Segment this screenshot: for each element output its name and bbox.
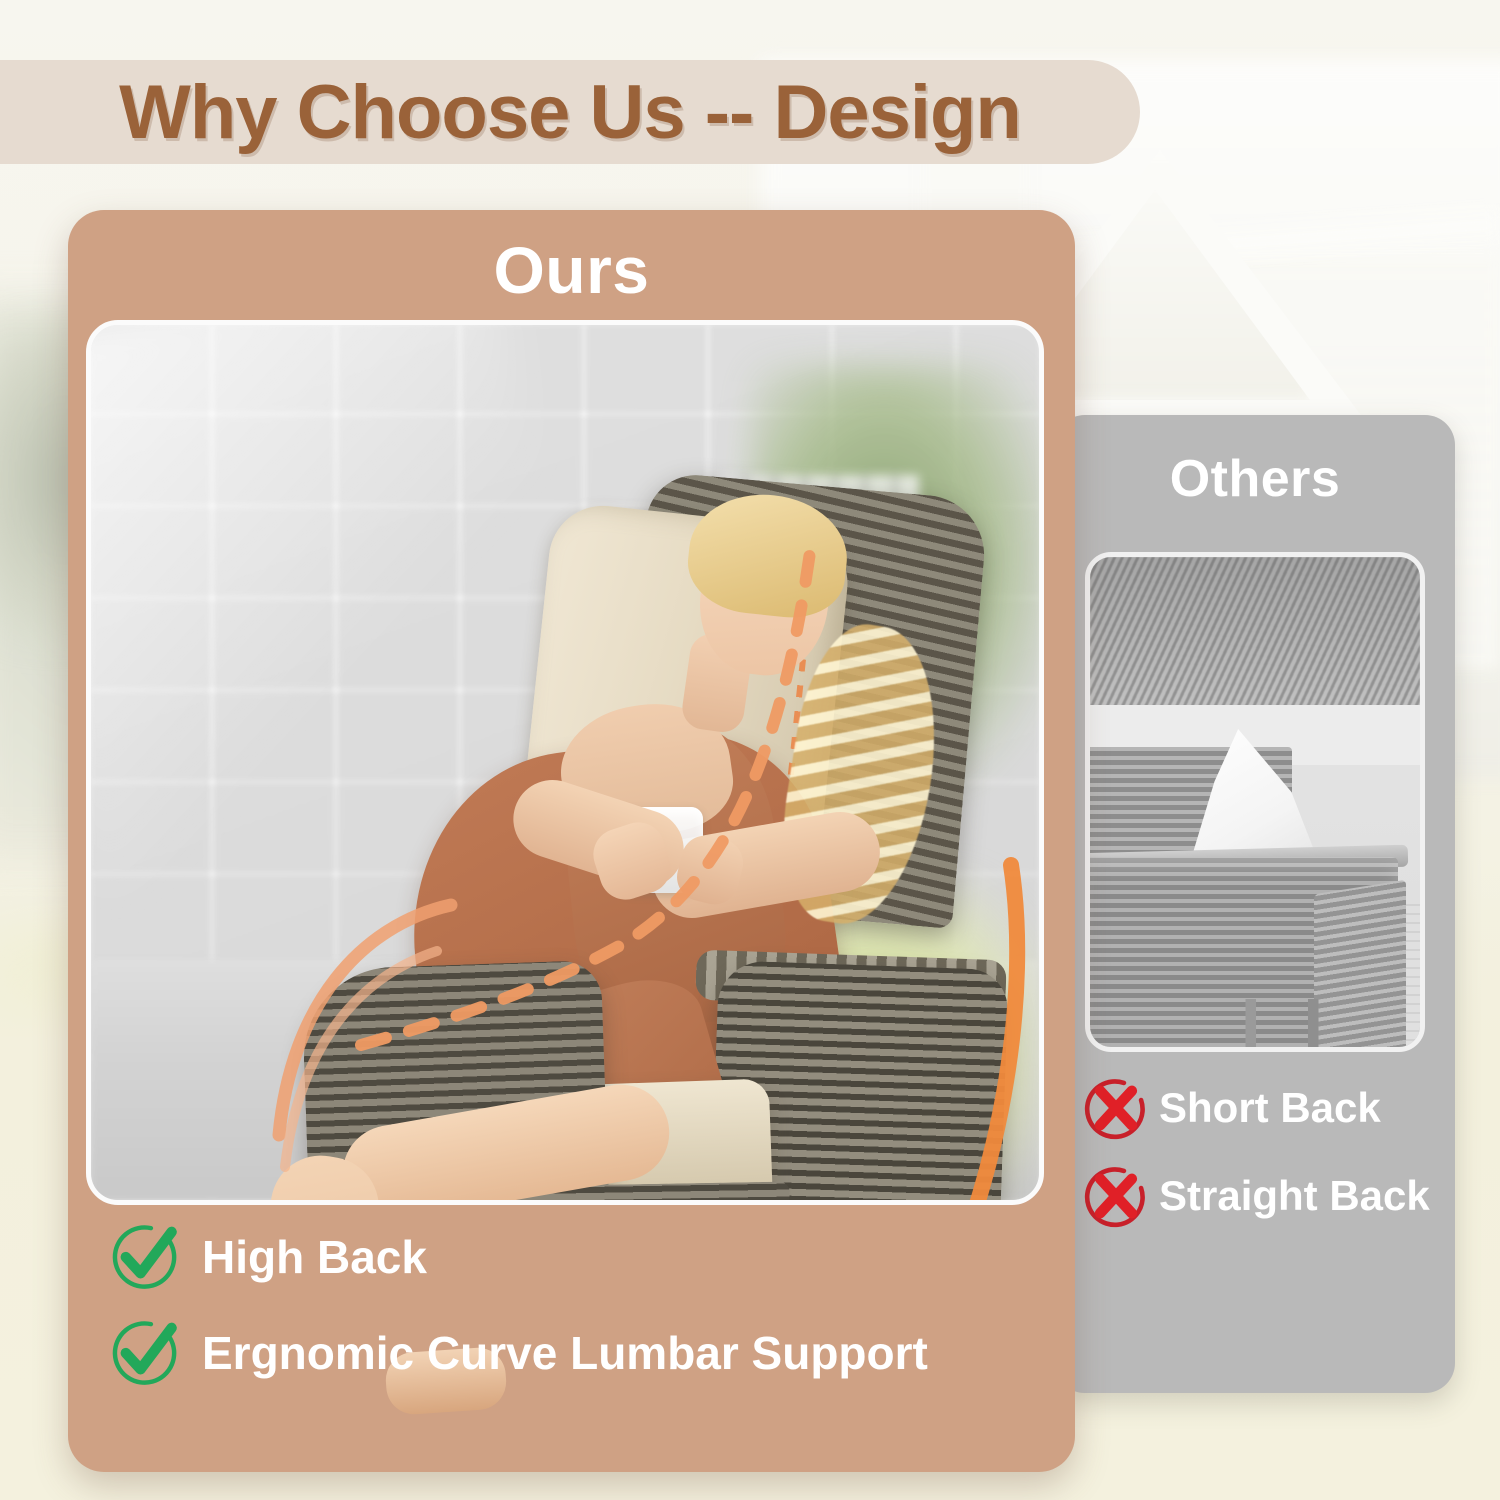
- ours-panel: Ours: [68, 210, 1075, 1472]
- list-item: Ergnomic Curve Lumbar Support: [108, 1316, 1055, 1390]
- others-panel: Others Short Back: [1055, 415, 1455, 1393]
- ours-bullet-list: High Back Ergnomic Curve Lumbar Support: [108, 1220, 1055, 1412]
- others-photo-hedge: [1090, 557, 1420, 707]
- list-item-label: High Back: [202, 1230, 427, 1284]
- ours-product-photo: [86, 320, 1044, 1205]
- infographic-canvas: Why Choose Us -- Design Others: [0, 0, 1500, 1500]
- check-circle-icon: [108, 1220, 182, 1294]
- cross-circle-icon: [1083, 1075, 1149, 1141]
- list-item-label: Straight Back: [1159, 1172, 1430, 1220]
- list-item-label: Ergnomic Curve Lumbar Support: [202, 1326, 928, 1380]
- title-banner: Why Choose Us -- Design: [0, 60, 1140, 164]
- model-lower-leg-right: [407, 1201, 546, 1205]
- ours-panel-title: Ours: [68, 232, 1075, 308]
- others-product-photo: [1085, 552, 1425, 1052]
- page-title: Why Choose Us -- Design: [119, 69, 1021, 156]
- list-item-label: Short Back: [1159, 1084, 1381, 1132]
- others-panel-title: Others: [1055, 449, 1455, 509]
- others-bullet-list: Short Back Straight Back: [1083, 1075, 1441, 1251]
- check-circle-icon: [108, 1316, 182, 1390]
- others-sofa-legs: [1230, 999, 1360, 1047]
- list-item: High Back: [108, 1220, 1055, 1294]
- list-item: Straight Back: [1083, 1163, 1441, 1229]
- list-item: Short Back: [1083, 1075, 1441, 1141]
- cross-circle-icon: [1083, 1163, 1149, 1229]
